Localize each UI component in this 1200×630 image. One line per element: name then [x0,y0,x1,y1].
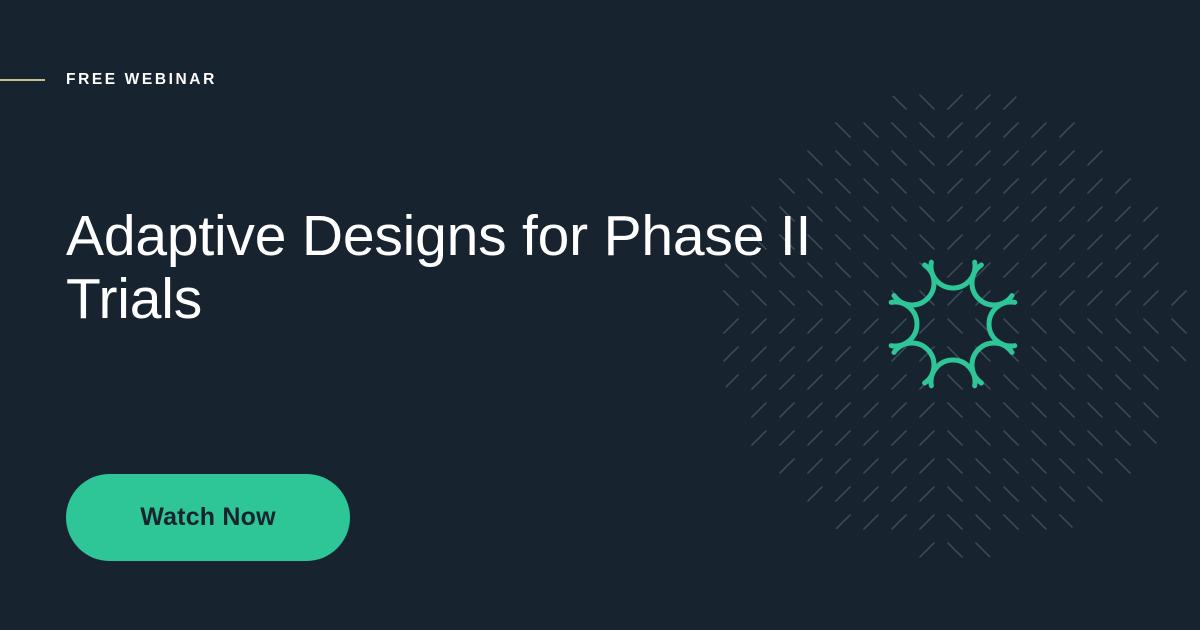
pattern-dash [920,515,934,529]
pattern-dash [920,179,934,193]
page-title: Adaptive Designs for Phase II Trials [66,205,856,330]
arc-bottom-left [894,343,934,383]
pattern-dash [1144,347,1158,361]
pattern-dash [976,207,990,221]
pattern-dash [948,235,962,249]
pattern-dash [1116,347,1130,361]
pattern-dash [892,403,906,417]
pattern-dash [1032,151,1046,165]
pattern-dash [1060,515,1074,529]
pattern-dash [976,319,990,333]
pattern-dash [948,543,962,557]
pattern-dash [864,123,878,137]
pattern-dash [1032,375,1046,389]
pattern-dash [1060,319,1074,333]
pattern-dash [836,487,850,501]
pattern-dash [892,291,906,305]
pattern-dash [976,403,990,417]
pattern-dash [1004,179,1018,193]
pattern-dash [1116,207,1130,221]
arc-top-left [894,265,934,305]
pattern-dash [948,95,962,109]
arc-left [891,302,917,346]
pattern-dash [1032,123,1046,137]
pattern-dash [1172,319,1186,333]
pattern-dash [1004,375,1018,389]
pattern-dash [836,151,850,165]
watch-now-label: Watch Now [140,503,276,532]
pattern-dash [1060,459,1074,473]
pattern-dash [892,487,906,501]
pattern-dash [948,459,962,473]
pattern-dash [1004,319,1018,333]
pattern-dash [808,151,822,165]
pattern-dash [920,347,934,361]
watch-now-button[interactable]: Watch Now [66,474,350,561]
pattern-dash [1004,347,1018,361]
pattern-dash [948,375,962,389]
pattern-dash [976,291,990,305]
pattern-dash [976,543,990,557]
pattern-dash [1088,487,1102,501]
pattern-dash [1088,431,1102,445]
pattern-dash [1116,375,1130,389]
pattern-dash [976,487,990,501]
pattern-dash [864,403,878,417]
pattern-dash [892,431,906,445]
pattern-dash [892,179,906,193]
pattern-dash [920,207,934,221]
pattern-dash [808,459,822,473]
pattern-dash [976,459,990,473]
pattern-dash [752,347,766,361]
pattern-dash [1060,487,1074,501]
pattern-dash [1004,291,1018,305]
pattern-dash [836,459,850,473]
pattern-dash [1004,263,1018,277]
pattern-dash [1032,347,1046,361]
pattern-dash [1004,123,1018,137]
arc-right [989,302,1015,346]
pattern-dash [920,431,934,445]
pattern-dash [1088,319,1102,333]
pattern-dash [892,235,906,249]
pattern-dash [1116,263,1130,277]
pattern-dash [836,179,850,193]
pattern-dash [1144,263,1158,277]
pattern-dash [920,459,934,473]
pattern-dash [808,487,822,501]
pattern-dash [1060,235,1074,249]
pattern-dash [780,403,794,417]
arc-bottom-right [972,343,1012,383]
pattern-dash [1116,179,1130,193]
pattern-dash [864,319,878,333]
pattern-dash [1004,487,1018,501]
pattern-dash [780,347,794,361]
pattern-dash [892,151,906,165]
pattern-dash [1088,347,1102,361]
pattern-dash [948,431,962,445]
pattern-dash [948,347,962,361]
pattern-dash [976,179,990,193]
pattern-dash [864,459,878,473]
pattern-dash [1004,459,1018,473]
pattern-dash [1032,207,1046,221]
pattern-dash [1116,235,1130,249]
pattern-dash [836,403,850,417]
pattern-dash [948,263,962,277]
pattern-dash [780,459,794,473]
pattern-dash [976,95,990,109]
pattern-dash [1144,403,1158,417]
pattern-dash [948,515,962,529]
pattern-dash [1004,431,1018,445]
pattern-dash [948,151,962,165]
pattern-dash [1088,403,1102,417]
pattern-dash [1060,431,1074,445]
pattern-dash [1032,179,1046,193]
pattern-dash [836,375,850,389]
pattern-dash [1116,291,1130,305]
arc-top-right [972,265,1012,305]
pattern-dash [948,179,962,193]
pattern-dash [1032,235,1046,249]
pattern-dash [976,123,990,137]
pattern-dash [892,207,906,221]
pattern-dash [808,403,822,417]
pattern-dash [1032,319,1046,333]
pattern-dash [1004,403,1018,417]
pattern-dash [976,235,990,249]
pattern-dash [1060,291,1074,305]
pattern-dash [1144,319,1158,333]
pattern-dash [1088,291,1102,305]
pattern-dash [864,515,878,529]
pattern-dash [864,487,878,501]
pattern-dash [1144,375,1158,389]
pattern-dash [892,459,906,473]
pattern-dash [1060,123,1074,137]
pattern-dash [1060,151,1074,165]
pattern-dash [1004,151,1018,165]
pattern-dash [1060,179,1074,193]
pattern-dash [1032,263,1046,277]
pattern-dash [752,375,766,389]
pattern-dash [1088,263,1102,277]
green-arc-ring [891,262,1015,386]
pattern-dash [864,375,878,389]
pattern-dash [920,263,934,277]
pattern-dash [920,487,934,501]
pattern-dash [780,375,794,389]
pattern-dash [808,375,822,389]
pattern-dash [892,123,906,137]
pattern-dash [1088,235,1102,249]
pattern-dash [976,431,990,445]
webinar-promo-card: FREE WEBINAR Adaptive Designs for Phase … [0,0,1200,630]
pattern-dash [1032,403,1046,417]
pattern-dash [1144,291,1158,305]
pattern-dash [920,291,934,305]
pattern-dash [1088,459,1102,473]
pattern-dash [1032,515,1046,529]
pattern-dash [976,263,990,277]
pattern-dash [892,263,906,277]
pattern-dash [1032,291,1046,305]
pattern-dash [808,431,822,445]
pattern-dash [1088,151,1102,165]
pattern-dash [920,375,934,389]
pattern-dash [920,543,934,557]
pattern-dash [948,487,962,501]
pattern-dash [948,291,962,305]
pattern-dash [948,207,962,221]
pattern-dash [920,123,934,137]
pattern-dash [920,319,934,333]
pattern-dash [920,95,934,109]
pattern-dash [864,291,878,305]
pattern-dash [976,151,990,165]
pattern-dash [864,179,878,193]
pattern-dash [864,347,878,361]
pattern-dash [1088,207,1102,221]
pattern-dash [864,431,878,445]
pattern-dash [948,319,962,333]
pattern-dash [836,515,850,529]
pattern-dash [976,347,990,361]
pattern-dash [1116,403,1130,417]
pattern-dash [1088,375,1102,389]
pattern-dash [920,235,934,249]
pattern-dash [1088,179,1102,193]
pattern-dash [724,375,738,389]
pattern-dash [892,375,906,389]
pattern-dash [948,403,962,417]
pattern-dash [1060,263,1074,277]
pattern-dash [1004,235,1018,249]
pattern-dash [976,515,990,529]
pattern-dash [1032,459,1046,473]
pattern-dash [836,347,850,361]
pattern-dash [864,235,878,249]
pattern-dash [1172,347,1186,361]
arc-top [931,262,975,288]
pattern-dash [752,431,766,445]
pattern-dash [836,431,850,445]
pattern-dash [864,151,878,165]
pattern-dash [1060,347,1074,361]
pattern-dash [1004,95,1018,109]
pattern-dash [892,515,906,529]
pattern-dash [1060,403,1074,417]
pattern-dash [1172,291,1186,305]
pattern-dash [780,179,794,193]
pattern-dash [780,431,794,445]
pattern-dash [808,179,822,193]
pattern-dash [892,319,906,333]
pattern-dash [808,347,822,361]
pattern-dash [920,151,934,165]
pattern-dash [1004,207,1018,221]
pattern-dash [892,347,906,361]
pattern-dash [1004,515,1018,529]
pattern-dash [920,403,934,417]
pattern-dash [752,403,766,417]
pattern-dash [892,95,906,109]
pattern-dash [1116,459,1130,473]
pattern-dash [864,263,878,277]
eyebrow-rule-icon [0,79,45,81]
pattern-dash [864,207,878,221]
pattern-dash [1116,319,1130,333]
eyebrow: FREE WEBINAR [0,66,217,94]
pattern-dash [976,375,990,389]
pattern-dash [1116,431,1130,445]
pattern-dash [1144,235,1158,249]
pattern-dash [836,123,850,137]
pattern-dash [1060,207,1074,221]
eyebrow-label: FREE WEBINAR [66,72,217,88]
pattern-dash [724,347,738,361]
pattern-dash [1144,431,1158,445]
pattern-dash [1032,431,1046,445]
arc-bottom [931,360,975,386]
pattern-dash [1060,375,1074,389]
pattern-dash [1032,487,1046,501]
pattern-dash [1144,207,1158,221]
pattern-dash [948,123,962,137]
